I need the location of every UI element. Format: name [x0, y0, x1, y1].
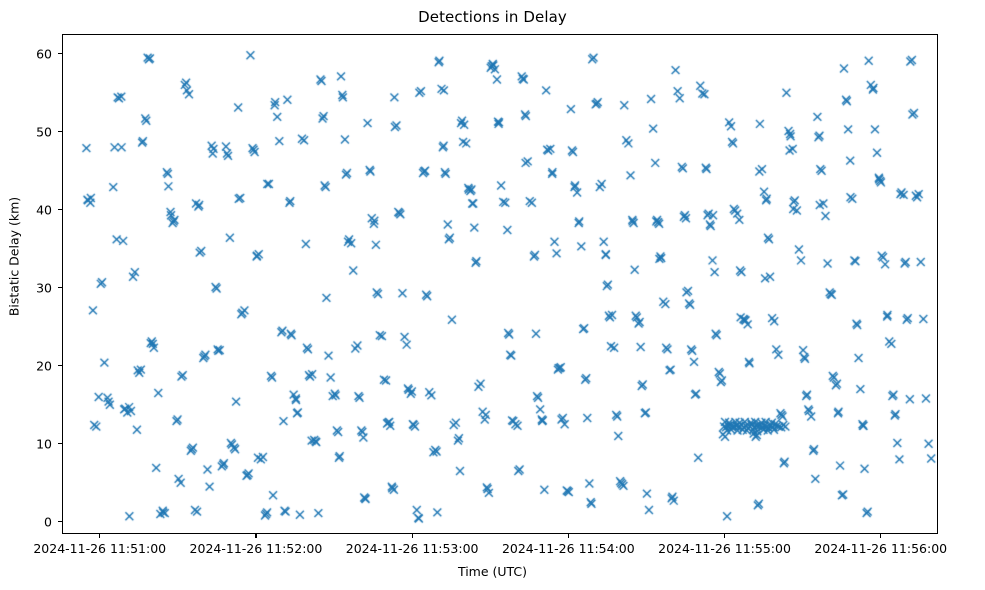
- x-tick-label: 2024-11-26 11:55:00: [658, 541, 791, 556]
- x-tick-mark: [99, 534, 100, 538]
- y-tick-mark: [58, 365, 62, 366]
- x-tick-mark: [880, 534, 881, 538]
- scatter-canvas: [63, 35, 939, 535]
- x-tick-label: 2024-11-26 11:53:00: [346, 541, 479, 556]
- x-tick-mark: [724, 534, 725, 538]
- y-tick-mark: [58, 521, 62, 522]
- x-tick-label: 2024-11-26 11:56:00: [814, 541, 947, 556]
- y-tick-mark: [58, 287, 62, 288]
- plot-area: [62, 34, 938, 534]
- x-axis-label: Time (UTC): [0, 564, 985, 579]
- x-tick-mark: [568, 534, 569, 538]
- chart-figure: Detections in Delay 0102030405060 2024-1…: [0, 0, 985, 590]
- x-tick-label: 2024-11-26 11:51:00: [33, 541, 166, 556]
- x-tick-label: 2024-11-26 11:52:00: [190, 541, 323, 556]
- y-tick-mark: [58, 53, 62, 54]
- chart-title: Detections in Delay: [0, 8, 985, 26]
- x-tick-label: 2024-11-26 11:54:00: [502, 541, 635, 556]
- y-tick-mark: [58, 131, 62, 132]
- y-tick-mark: [58, 209, 62, 210]
- y-axis-label: Bistatic Delay (km): [7, 7, 22, 507]
- x-tick-mark: [412, 534, 413, 538]
- x-tick-mark: [255, 534, 256, 538]
- y-tick-label: 0: [0, 514, 52, 529]
- y-tick-mark: [58, 443, 62, 444]
